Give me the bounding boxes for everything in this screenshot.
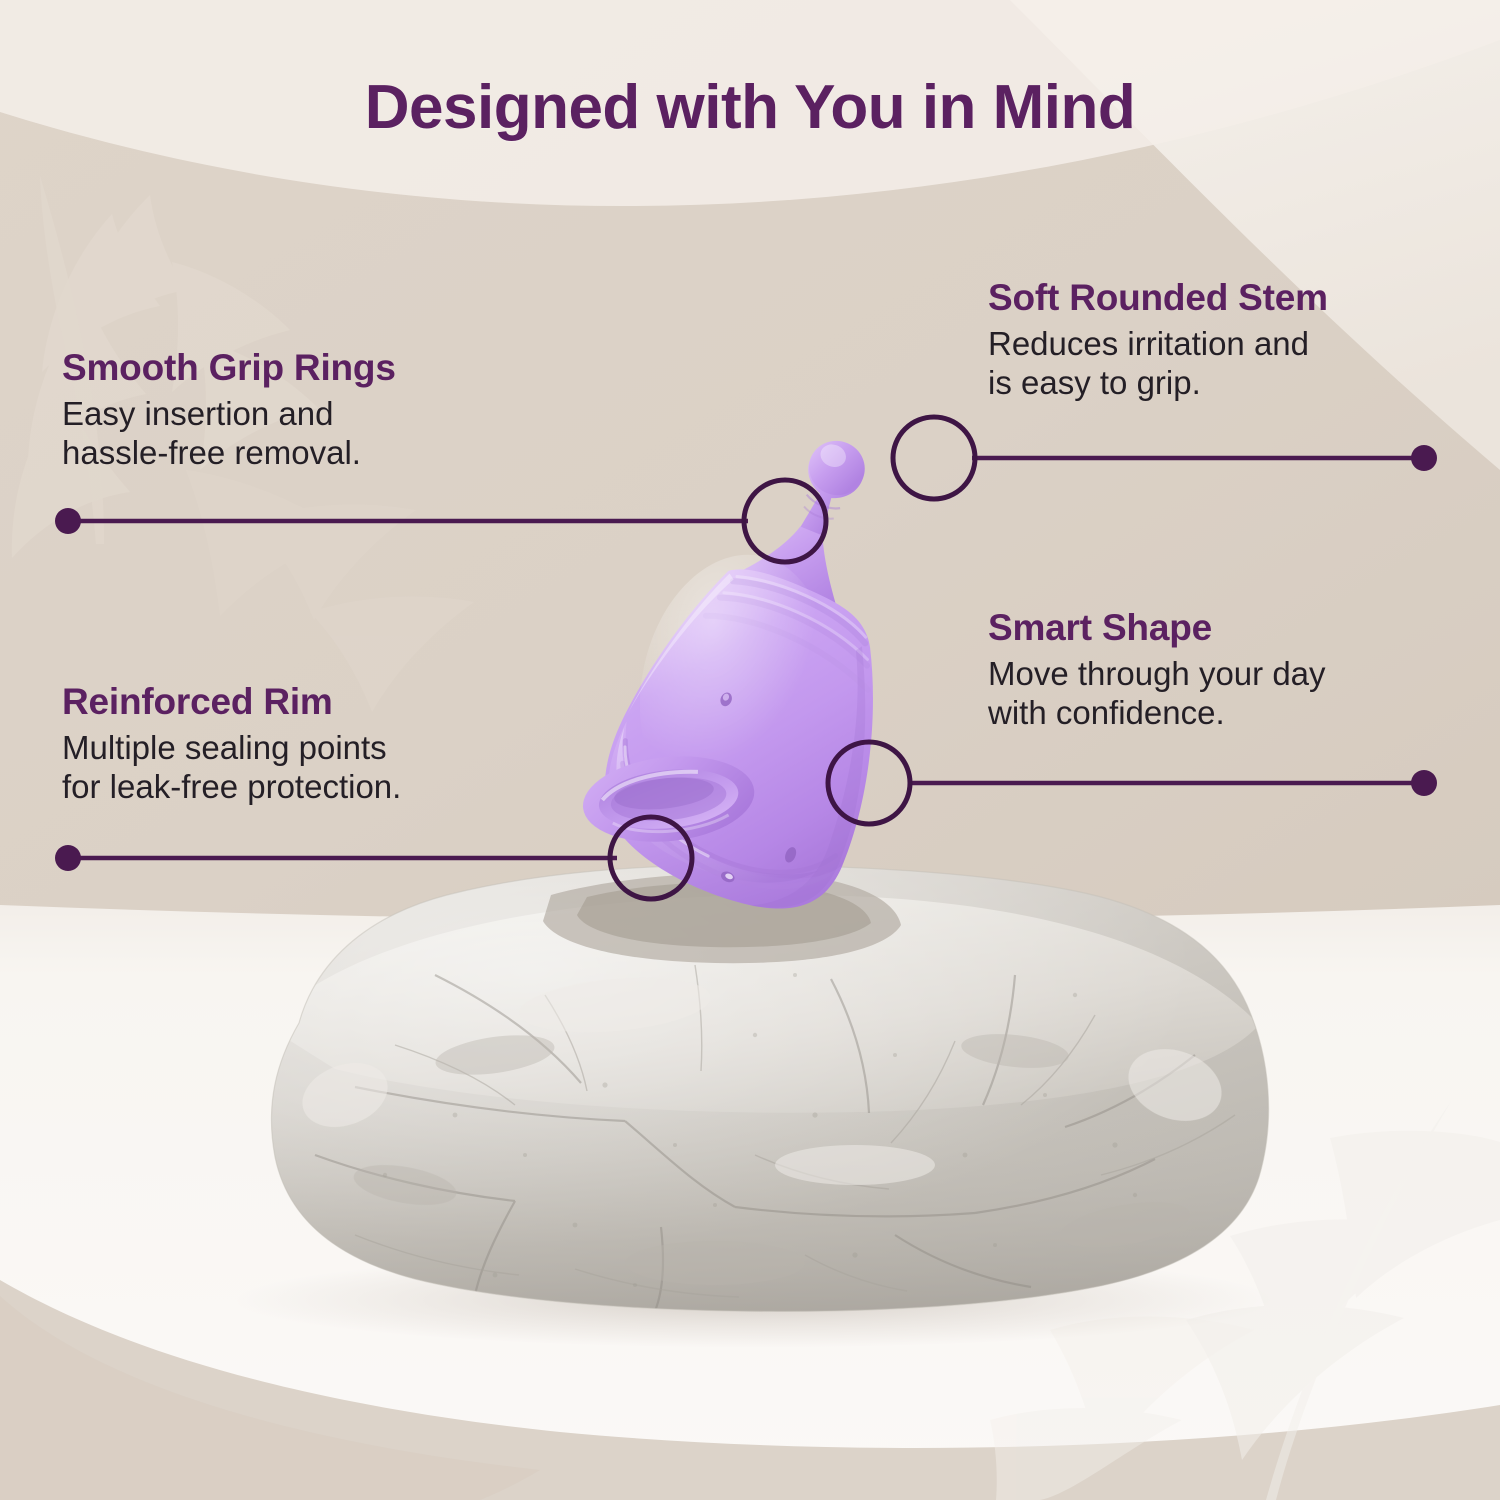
- callout-smart-shape: Smart Shape Move through your day with c…: [988, 608, 1478, 733]
- callout-heading: Soft Rounded Stem: [988, 278, 1468, 317]
- callout-reinforced-rim: Reinforced Rim Multiple sealing points f…: [62, 682, 602, 807]
- callout-heading: Reinforced Rim: [62, 682, 602, 721]
- page-title: Designed with You in Mind: [0, 72, 1500, 143]
- callout-body-line-1: Easy insertion and: [62, 395, 582, 434]
- menstrual-cup: [500, 395, 1020, 965]
- callout-body-line-1: Move through your day: [988, 655, 1478, 694]
- infographic-canvas: Designed with You in Mind Smooth Grip Ri…: [0, 0, 1500, 1500]
- callout-body-line-2: hassle-free removal.: [62, 434, 582, 473]
- callout-heading: Smooth Grip Rings: [62, 348, 582, 387]
- callout-body-line-2: is easy to grip.: [988, 364, 1468, 403]
- callout-body-line-1: Reduces irritation and: [988, 325, 1468, 364]
- callout-heading: Smart Shape: [988, 608, 1478, 647]
- callout-body-line-2: with confidence.: [988, 694, 1478, 733]
- callout-body-line-1: Multiple sealing points: [62, 729, 602, 768]
- callout-body-line-2: for leak-free protection.: [62, 768, 602, 807]
- callout-smooth-grip-rings: Smooth Grip Rings Easy insertion and has…: [62, 348, 582, 473]
- callout-soft-rounded-stem: Soft Rounded Stem Reduces irritation and…: [988, 278, 1468, 403]
